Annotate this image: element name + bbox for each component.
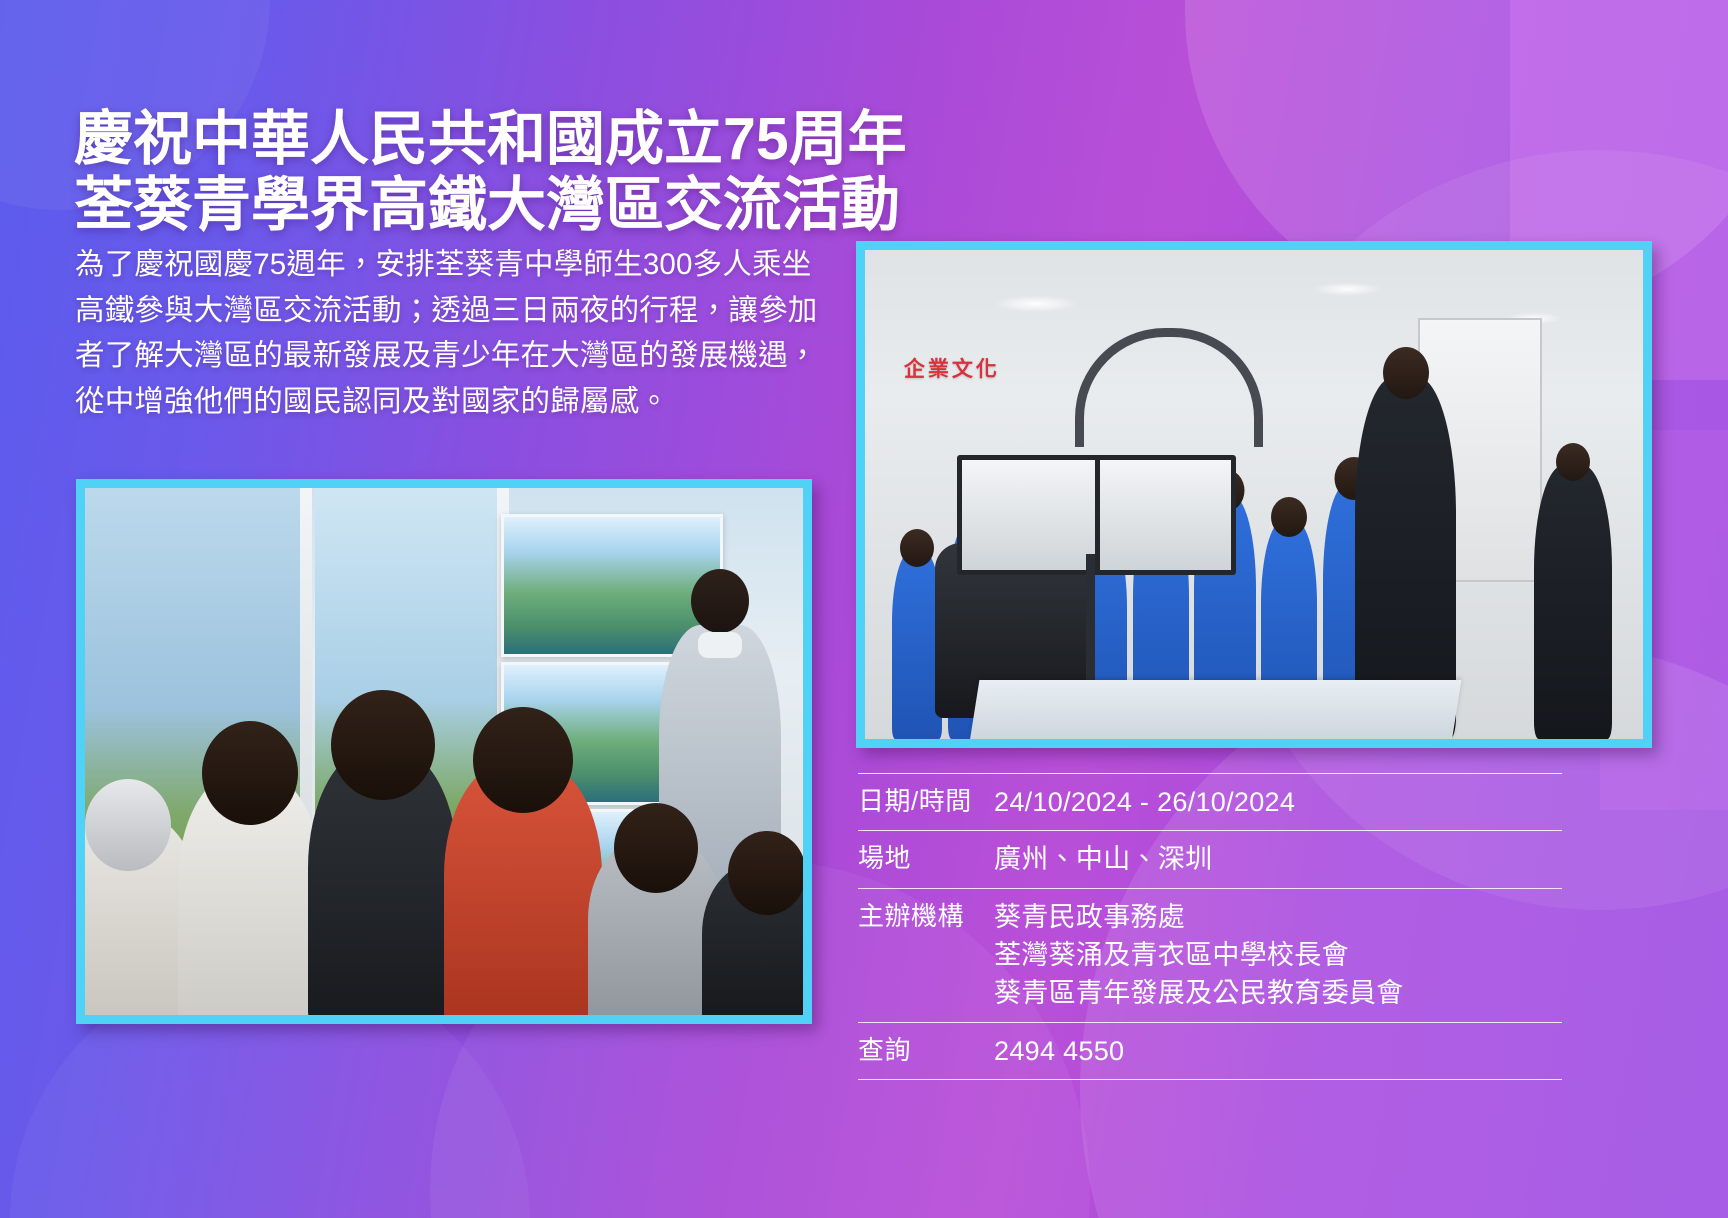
detail-line: 葵青區青年發展及公民教育委員會 — [994, 974, 1562, 1012]
foreground-students — [85, 720, 803, 1015]
detail-line: 24/10/2024 - 26/10/2024 — [994, 783, 1562, 821]
description-line-2: 高鐵參與大灣區交流活動；透過三日兩夜的行程，讓參加 — [75, 288, 835, 334]
photo-viewing-platform — [76, 479, 812, 1024]
table-row: 場地 廣州、中山、深圳 — [858, 830, 1562, 887]
student — [444, 761, 602, 1015]
simulator-screen — [957, 455, 1236, 575]
detail-line: 荃灣葵涌及青衣區中學校長會 — [994, 936, 1562, 974]
table-row: 主辦機構 葵青民政事務處 荃灣葵涌及青衣區中學校長會 葵青區青年發展及公民教育委… — [858, 888, 1562, 1022]
photo-showroom: 企業文化 — [856, 241, 1652, 748]
poster-title-line-2: 荃葵青學界高鐵大灣區交流活動 — [74, 172, 1134, 238]
row-label-venue: 場地 — [858, 840, 994, 877]
student — [702, 862, 803, 1015]
viewing-platform-scene — [85, 488, 803, 1015]
description-line-4: 從中增強他們的國民認同及對國家的歸屬感。 — [75, 379, 835, 425]
student — [308, 749, 459, 1015]
poster-title: 慶祝中華人民共和國成立75周年 荃葵青學界高鐵大灣區交流活動 — [74, 106, 1134, 238]
event-poster: 慶祝中華人民共和國成立75周年 荃葵青學界高鐵大灣區交流活動 為了慶祝國慶75週… — [0, 0, 1728, 1218]
student — [178, 773, 322, 1015]
poster-title-line-1: 慶祝中華人民共和國成立75周年 — [74, 106, 907, 172]
description-line-3: 者了解大灣區的最新發展及青少年在大灣區的發展機遇， — [75, 333, 835, 379]
row-label-enquiry: 查詢 — [858, 1032, 994, 1069]
person-staff — [1534, 465, 1612, 739]
row-label-organizer: 主辦機構 — [858, 898, 994, 935]
row-value-venue: 廣州、中山、深圳 — [994, 840, 1562, 878]
description-line-1: 為了慶祝國慶75週年，安排荃葵青中學師生300多人乘坐 — [75, 242, 835, 288]
poster-description: 為了慶祝國慶75週年，安排荃葵青中學師生300多人乘坐 高鐵參與大灣區交流活動；… — [75, 242, 835, 425]
face-mask — [698, 632, 742, 658]
table-row: 日期/時間 24/10/2024 - 26/10/2024 — [858, 773, 1562, 830]
row-value-enquiry: 2494 4550 — [994, 1032, 1562, 1070]
showroom-scene: 企業文化 — [865, 250, 1643, 739]
row-label-date-time: 日期/時間 — [858, 783, 994, 820]
arch-decor — [1075, 328, 1263, 447]
row-value-organizer: 葵青民政事務處 荃灣葵涌及青衣區中學校長會 葵青區青年發展及公民教育委員會 — [994, 898, 1562, 1013]
row-value-date-time: 24/10/2024 - 26/10/2024 — [994, 783, 1562, 821]
table-row: 查詢 2494 4550 — [858, 1022, 1562, 1080]
detail-line: 廣州、中山、深圳 — [994, 840, 1562, 878]
event-details-table: 日期/時間 24/10/2024 - 26/10/2024 場地 廣州、中山、深… — [858, 773, 1562, 1080]
detail-line: 2494 4550 — [994, 1032, 1562, 1070]
wall-text-corporate-culture: 企業文化 — [904, 353, 1000, 383]
display-table — [968, 680, 1461, 739]
detail-line: 葵青民政事務處 — [994, 898, 1562, 936]
guide-head — [691, 569, 749, 633]
